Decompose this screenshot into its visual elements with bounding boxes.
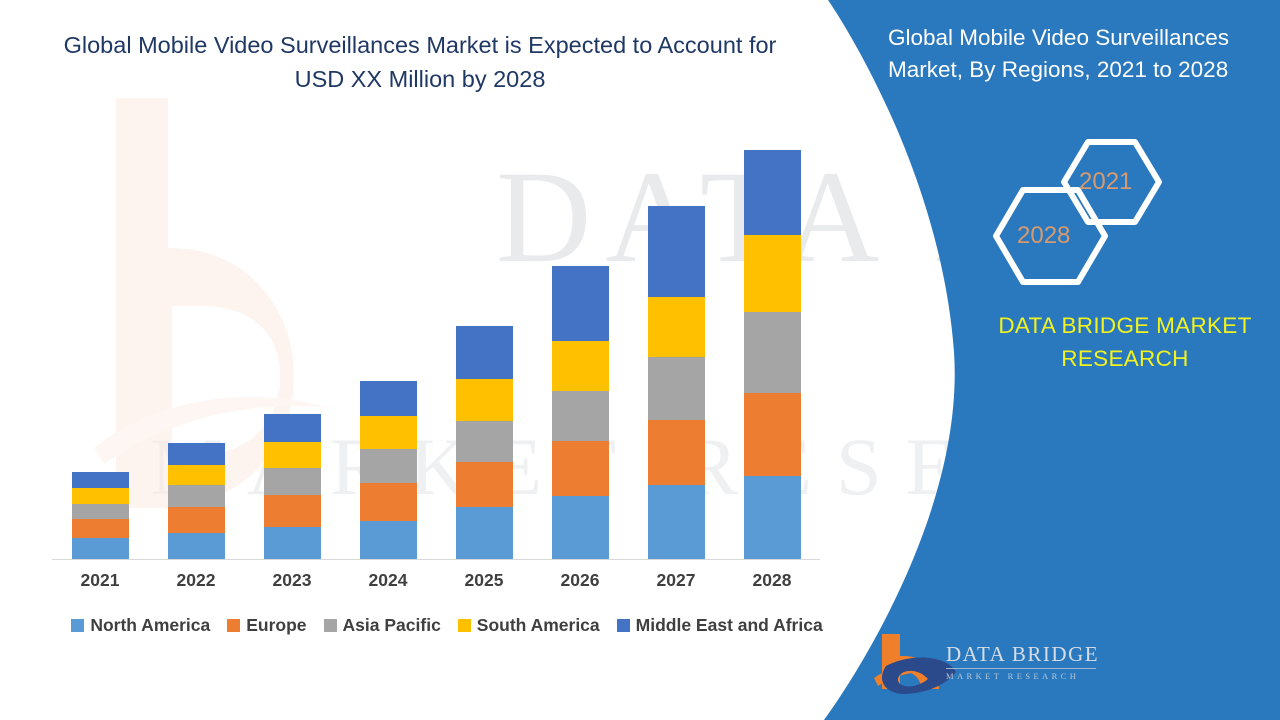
bar-column xyxy=(52,150,148,559)
stacked-bar-2021 xyxy=(72,472,129,559)
x-axis-label: 2025 xyxy=(436,570,532,591)
bar-segment xyxy=(360,483,417,520)
bar-segment xyxy=(264,414,321,441)
bar-column xyxy=(724,150,820,559)
bar-segment xyxy=(72,488,129,504)
x-axis-label: 2024 xyxy=(340,570,436,591)
panel-title: Global Mobile Video Surveillances Market… xyxy=(888,22,1268,86)
bar-segment xyxy=(456,462,513,507)
bar-segment xyxy=(648,420,705,486)
logo-text-block: DATA BRIDGE MARKET RESEARCH xyxy=(946,644,1116,681)
bar-segment xyxy=(456,379,513,421)
panel-title-line1: Global Mobile Video Surveillances xyxy=(888,22,1268,54)
bar-segment xyxy=(168,507,225,532)
bar-column xyxy=(244,150,340,559)
legend-label: Europe xyxy=(246,615,306,636)
legend-swatch-icon xyxy=(227,619,240,632)
bar-segment xyxy=(72,519,129,538)
legend-label: North America xyxy=(90,615,210,636)
stacked-bar-2022 xyxy=(168,443,225,559)
stacked-bar-2024 xyxy=(360,381,417,559)
x-axis-line xyxy=(52,559,820,560)
bar-segment xyxy=(456,421,513,463)
legend-swatch-icon xyxy=(71,619,84,632)
brand-line1: DATA BRIDGE MARKET xyxy=(960,310,1280,343)
bar-segment xyxy=(552,341,609,390)
legend-label: Asia Pacific xyxy=(343,615,441,636)
bar-columns xyxy=(52,150,820,559)
bar-segment xyxy=(360,381,417,416)
bar-segment xyxy=(168,533,225,559)
brand-wordmark: DATA BRIDGE MARKET RESEARCH xyxy=(960,310,1280,375)
legend-label: South America xyxy=(477,615,600,636)
hexagon-group: 2021 2028 xyxy=(975,128,1195,288)
hexagon-2028-label: 2028 xyxy=(1017,222,1070,250)
legend-item[interactable]: Asia Pacific xyxy=(324,615,441,636)
bar-segment xyxy=(744,393,801,475)
legend-item[interactable]: Europe xyxy=(227,615,306,636)
x-axis-label: 2026 xyxy=(532,570,628,591)
legend-item[interactable]: North America xyxy=(71,615,210,636)
plot-area xyxy=(52,150,820,560)
bar-column xyxy=(628,150,724,559)
stacked-bar-chart xyxy=(52,150,820,560)
bar-segment xyxy=(744,476,801,559)
bar-segment xyxy=(744,150,801,234)
panel-title-line2: Market, By Regions, 2021 to 2028 xyxy=(888,54,1268,86)
bar-segment xyxy=(360,449,417,483)
bar-segment xyxy=(264,495,321,527)
bar-segment xyxy=(552,391,609,441)
bar-segment xyxy=(360,416,417,449)
x-axis-label: 2021 xyxy=(52,570,148,591)
bar-segment xyxy=(744,235,801,313)
legend-swatch-icon xyxy=(617,619,630,632)
x-axis-label: 2023 xyxy=(244,570,340,591)
chart-legend: North AmericaEuropeAsia PacificSouth Ame… xyxy=(52,615,842,636)
x-axis-label: 2022 xyxy=(148,570,244,591)
legend-label: Middle East and Africa xyxy=(636,615,823,636)
bar-segment xyxy=(648,297,705,357)
bar-segment xyxy=(648,357,705,420)
x-axis-label: 2027 xyxy=(628,570,724,591)
bar-segment xyxy=(72,504,129,520)
stacked-bar-2023 xyxy=(264,414,321,559)
bar-segment xyxy=(168,465,225,486)
stacked-bar-2026 xyxy=(552,266,609,559)
legend-item[interactable]: Middle East and Africa xyxy=(617,615,823,636)
bar-segment xyxy=(648,485,705,559)
infographic-slide: DATA BRIDGE MARKET RESEARCH Global Mobil… xyxy=(0,0,1280,720)
logo-company-name: DATA BRIDGE xyxy=(946,644,1116,665)
bar-column xyxy=(532,150,628,559)
legend-item[interactable]: South America xyxy=(458,615,600,636)
hexagon-2021-label: 2021 xyxy=(1079,168,1132,196)
stacked-bar-2027 xyxy=(648,206,705,559)
bar-segment xyxy=(168,485,225,507)
bar-segment xyxy=(72,538,129,559)
bar-segment xyxy=(72,472,129,488)
brand-line2: RESEARCH xyxy=(960,343,1280,376)
x-axis-label: 2028 xyxy=(724,570,820,591)
bar-segment xyxy=(360,521,417,559)
bar-segment xyxy=(168,443,225,465)
bar-segment xyxy=(552,496,609,559)
bar-segment xyxy=(264,527,321,559)
bar-segment xyxy=(552,266,609,341)
stacked-bar-2028 xyxy=(744,150,801,559)
chart-title-line2: USD XX Million by 2028 xyxy=(20,62,820,96)
bar-segment xyxy=(648,206,705,297)
stacked-bar-2025 xyxy=(456,326,513,559)
legend-swatch-icon xyxy=(458,619,471,632)
bar-segment xyxy=(264,468,321,495)
x-axis-labels: 20212022202320242025202620272028 xyxy=(52,570,820,591)
bar-segment xyxy=(552,441,609,496)
bar-segment xyxy=(456,326,513,379)
chart-title: Global Mobile Video Surveillances Market… xyxy=(20,28,820,96)
bar-column xyxy=(148,150,244,559)
logo-tagline: MARKET RESEARCH xyxy=(946,672,1116,681)
bar-segment xyxy=(456,507,513,559)
legend-swatch-icon xyxy=(324,619,337,632)
chart-title-line1: Global Mobile Video Surveillances Market… xyxy=(20,28,820,62)
bar-segment xyxy=(744,312,801,393)
bar-column xyxy=(340,150,436,559)
logo-divider xyxy=(946,668,1096,669)
bar-segment xyxy=(264,442,321,468)
bar-column xyxy=(436,150,532,559)
